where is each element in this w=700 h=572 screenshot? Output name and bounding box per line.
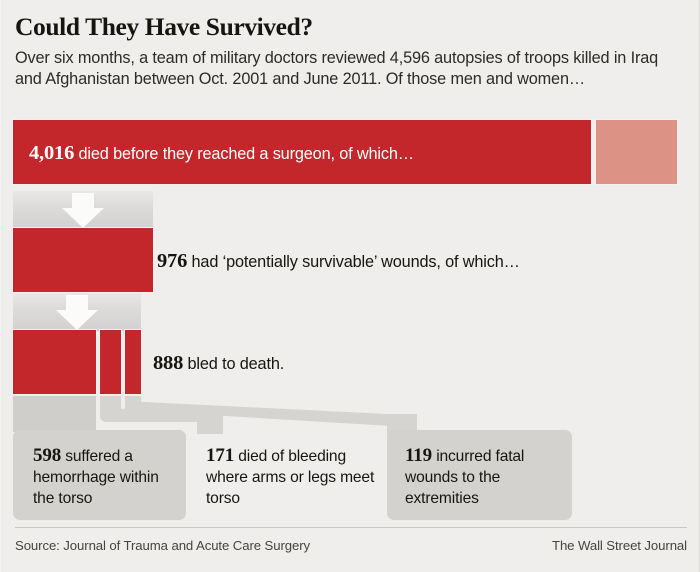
down-arrow-icon-1 [62,208,104,228]
callout-value-3: 119 [405,445,432,466]
down-arrow-icon-2 [56,310,98,330]
bar-stage-1-remainder[interactable] [596,120,677,184]
bar-label-stage-2: 976 had ‘potentially survivable’ wounds,… [157,250,520,273]
bar-text-stage-1: died before they reached a surgeon, of w… [74,145,414,163]
bar-label-stage-1: 4,016 died before they reached a surgeon… [29,142,414,165]
connector-to-callout-1 [13,396,96,432]
page-title: Could They Have Survived? [15,14,681,41]
bar-stage-3-segment-extremities[interactable] [125,330,141,394]
bar-text-stage-3: bled to death. [183,355,284,373]
callout-value-1: 598 [33,445,61,466]
bar-stage-3-segment-junctional[interactable] [100,330,121,394]
bar-value-stage-2: 976 [157,250,187,272]
header: Could They Have Survived? Over six month… [1,0,699,89]
bar-stage-3-segment-torso[interactable] [13,330,96,394]
bar-value-stage-3: 888 [153,352,183,374]
chart-subtitle: Over six months, a team of military doct… [15,48,681,90]
bar-stage-2-potentially-survivable[interactable] [13,228,153,292]
brand-credit: The Wall Street Journal [552,538,687,553]
source-note: Source: Journal of Trauma and Acute Care… [15,538,310,553]
callout-value-2: 171 [206,445,234,466]
callout-text-3: 119 incurred fatal wounds to the extremi… [405,443,563,510]
callout-text-2: 171 died of bleeding where arms or legs … [206,443,376,510]
footer-divider [15,527,687,528]
bar-label-stage-3: 888 bled to death. [153,352,284,375]
callout-text-1: 598 suffered a hemorrhage within the tor… [33,443,175,510]
footer: Source: Journal of Trauma and Acute Care… [15,538,687,553]
bar-value-stage-1: 4,016 [29,142,74,164]
bar-text-stage-2: had ‘potentially survivable’ wounds, of … [187,253,520,271]
